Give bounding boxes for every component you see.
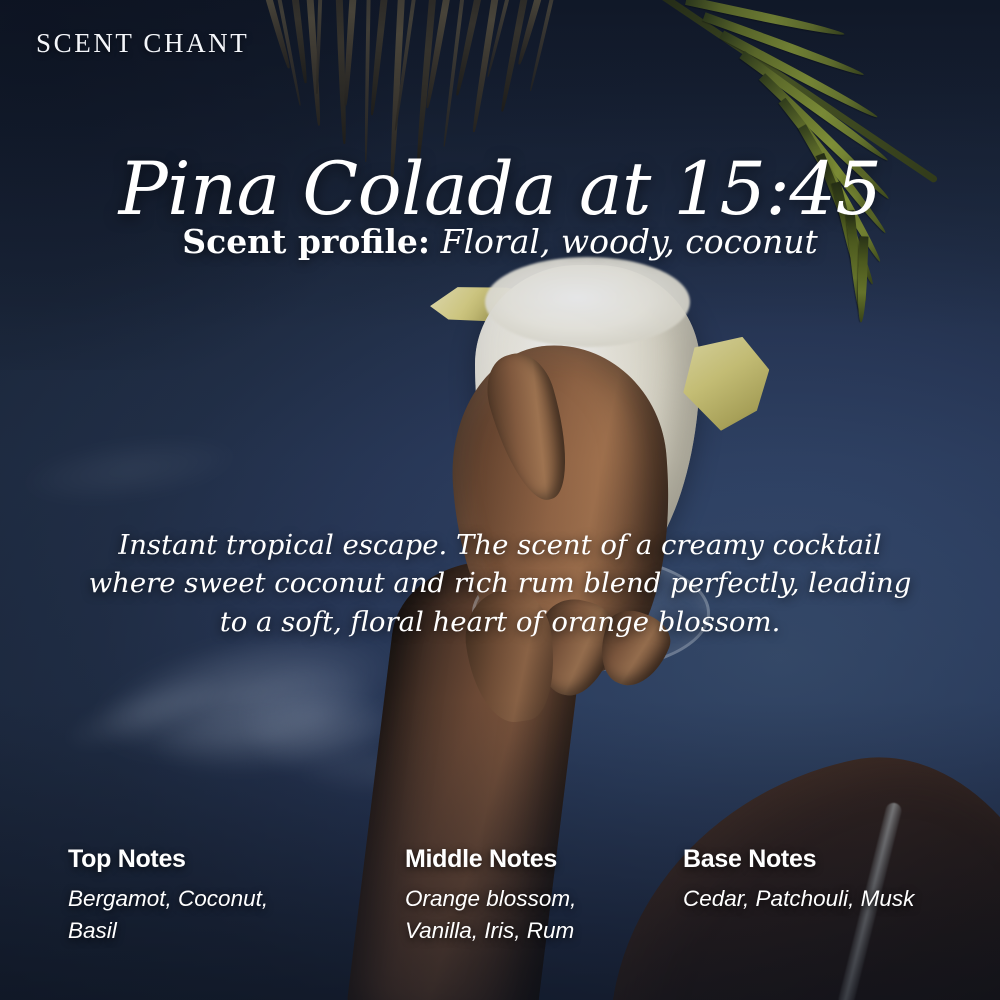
- scent-poster: SCENT CHANT Pina Colada at 15:45 Scent p…: [0, 0, 1000, 1000]
- description-text: Instant tropical escape. The scent of a …: [80, 526, 920, 642]
- poster-content: SCENT CHANT Pina Colada at 15:45 Scent p…: [0, 0, 1000, 1000]
- notes-column-middle: Middle Notes Orange blossom, Vanilla, Ir…: [405, 845, 683, 947]
- middle-notes-title: Middle Notes: [405, 845, 665, 874]
- notes-column-top: Top Notes Bergamot, Coconut, Basil: [68, 845, 405, 947]
- scent-profile-line: Scent profile: Floral, woody, coconut: [0, 222, 1000, 261]
- brand-logo: SCENT CHANT: [36, 28, 249, 59]
- top-notes-value: Bergamot, Coconut, Basil: [68, 883, 273, 947]
- middle-notes-value: Orange blossom, Vanilla, Iris, Rum: [405, 883, 595, 947]
- notes-section: Top Notes Bergamot, Coconut, Basil Middl…: [68, 845, 940, 947]
- notes-column-base: Base Notes Cedar, Patchouli, Musk: [683, 845, 940, 947]
- scent-profile-value: Floral, woody, coconut: [441, 222, 818, 261]
- top-notes-title: Top Notes: [68, 845, 387, 874]
- base-notes-value: Cedar, Patchouli, Musk: [683, 883, 922, 915]
- page-title: Pina Colada at 15:45: [0, 153, 1000, 227]
- scent-profile-label: Scent profile:: [182, 222, 430, 261]
- base-notes-title: Base Notes: [683, 845, 922, 874]
